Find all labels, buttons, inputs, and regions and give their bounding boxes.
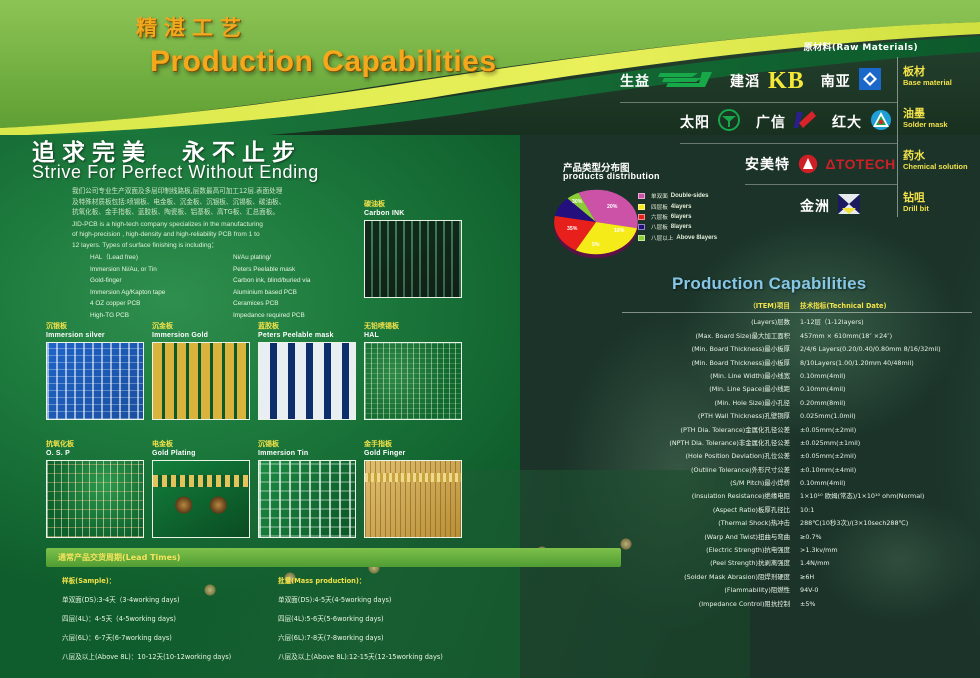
raw-materials-row-base-material: 生益 建滔 KB 南亚 xyxy=(620,60,881,102)
table-cell-value: ±0.05mm(±2mil) xyxy=(800,452,972,461)
sample-image xyxy=(258,342,356,420)
legend-item: 八层板 8layers xyxy=(638,222,717,232)
legend-item: 六层板 6layers xyxy=(638,212,717,222)
sample-label-en: Immersion Gold xyxy=(152,331,250,340)
table-row: (Min. Line Width)最小线宽0.10mm(4mil) xyxy=(622,368,972,381)
legend-label-cn: 六层板 xyxy=(651,213,668,221)
sample-tile-hal: 无铅喷锡板 HAL xyxy=(364,322,462,420)
table-row: (Min. Board Thickness)最小板厚8/10Layers(1.0… xyxy=(622,354,972,367)
sample-label-en: Immersion Tin xyxy=(258,449,356,458)
brand-label-jinzhou: 金洲 xyxy=(800,196,830,216)
legend-item: 单双面 Double-sides xyxy=(638,191,717,201)
table-cell-item: (PTH Wall Thickness)孔壁铜厚 xyxy=(622,412,800,421)
column-header-value: 技术指标(Technical Date) xyxy=(800,300,972,310)
column-header-item: （ITEM)项目 xyxy=(622,300,800,310)
sample-label-en: O. S. P xyxy=(46,449,144,458)
header-title-en: Production Capabilities xyxy=(150,45,497,79)
brand-label-shengyi: 生益 xyxy=(620,71,650,91)
legend-item: 四层板 4layers xyxy=(638,201,717,211)
table-cell-item: (Min. Board Thickness)最小板厚 xyxy=(622,359,800,368)
desc-cn-line: 我们公司专业生产双面及多层印制线路板,层数最高可加工12层.表面处理 xyxy=(72,186,330,197)
table-cell-value: ≥6H xyxy=(800,573,972,582)
sample-image xyxy=(46,342,144,420)
finish-item: Peters Peelable mask xyxy=(233,264,360,276)
raw-materials-row-drill-bit: 金洲 xyxy=(800,185,860,227)
sample-label-cn: 碳油板 xyxy=(364,200,462,209)
lead-time-item: 四层(4L)：4-5天（4-5working days) xyxy=(62,610,231,629)
table-row: (Outline Tolerance)外形尺寸公差±0.10mm(±4mil) xyxy=(622,461,972,474)
pie-value-double-sides: 35% xyxy=(567,226,577,232)
production-capabilities-table: （ITEM)项目 技术指标(Technical Date) (Layers)层数… xyxy=(622,300,972,609)
lead-time-item: 八层及以上(Above 8L)：10-12天(10-12working days… xyxy=(62,648,231,667)
finish-item: Ni/Au plating/ xyxy=(233,252,360,264)
table-cell-item: (Peel Strength)抗剥离强度 xyxy=(622,559,800,568)
sample-label-en: Peters Peelable mask xyxy=(258,331,356,340)
table-cell-value: 0.10mm(4mil) xyxy=(800,385,972,394)
category-label-en: Chemical solution xyxy=(903,162,968,171)
table-cell-item: (Min. Hole Size)最小孔径 xyxy=(622,399,800,408)
table-row: (Min. Hole Size)最小孔径0.20mm(8mil) xyxy=(622,394,972,407)
lead-time-item: 六层(6L)：6-7天(6-7working days) xyxy=(62,629,231,648)
sample-tile-gold-plating: 电金板 Gold Plating xyxy=(152,440,250,538)
sample-label-cn: 沉金板 xyxy=(152,322,250,331)
legend-label-en: Double-sides xyxy=(671,193,709,199)
legend-swatch-above-8layers xyxy=(638,235,645,241)
lead-time-item: 六层(6L):7-8天(7-8working days) xyxy=(278,629,443,648)
category-label-en: Base material xyxy=(903,78,952,87)
table-cell-value: 1×10¹⁰ 欧姆(常态)/1×10¹⁰ ohm(Normal) xyxy=(800,492,972,501)
shengyi-logo xyxy=(658,69,716,94)
finish-item: Immersion Ni/Au, or Tin xyxy=(90,264,217,276)
sample-image xyxy=(258,460,356,538)
table-row: (PTH Dia. Tolerance)金属化孔径公差±0.05mm(±2mil… xyxy=(622,421,972,434)
brochure-page: 精湛工艺 Production Capabilities 追求完美 永不止步 S… xyxy=(0,0,980,678)
table-cell-value: 457mm × 610mm(18″ ×24″) xyxy=(800,332,972,341)
table-cell-value: 0.025mm(1.0mil) xyxy=(800,412,972,421)
finish-item: Immersion Ag/Kapton tape xyxy=(90,287,217,299)
lead-times-sample-column: 样板(Sample)： 单双面(DS):3-4天（3-4working days… xyxy=(62,572,231,667)
sample-label-en: HAL xyxy=(364,331,462,340)
finish-item: Impedance required PCB xyxy=(233,310,360,322)
finish-item: Ceramices PCB xyxy=(233,298,360,310)
kb-logo: KB xyxy=(768,68,805,95)
legend-swatch-6layers xyxy=(638,214,645,220)
raw-materials-divider-vertical xyxy=(897,57,898,217)
legend-label-cn: 八层以上 xyxy=(651,234,673,242)
hongda-logo xyxy=(870,109,892,136)
sample-tile-peelable-mask: 蓝胶板 Peters Peelable mask xyxy=(258,322,356,420)
table-cell-item: (S/M Pitch)最小焊桥 xyxy=(622,479,800,488)
jinzhou-logo xyxy=(838,194,860,219)
table-cell-value: ±0.05mm(±2mil) xyxy=(800,426,972,435)
production-capabilities-title: Production Capabilities xyxy=(672,274,866,294)
table-cell-value: ±0.10mm(±4mil) xyxy=(800,466,972,475)
table-header-row: （ITEM)项目 技术指标(Technical Date) xyxy=(622,300,972,312)
category-label-en: Solder mask xyxy=(903,120,948,129)
brand-label-kb: 建滔 xyxy=(730,71,760,91)
table-cell-item: (Min. Line Width)最小线宽 xyxy=(622,372,800,381)
table-row: (Electric Strength)抗电强度>1.3kv/mm xyxy=(622,542,972,555)
sample-label-cn: 电金板 xyxy=(152,440,250,449)
desc-en-line: JID-PCB is a high-tech company specializ… xyxy=(72,220,330,231)
category-label-cn: 钻咀 xyxy=(903,192,929,204)
pie-chart: 30% 20% 10% 5% 35% xyxy=(548,184,644,262)
table-row: (Flammability)阻燃性94V-0 xyxy=(622,582,972,595)
atotech-logo: ΔTOTECH xyxy=(798,154,896,174)
table-row: (Layers)层数1-12层（1-12layers) xyxy=(622,314,972,327)
legend-swatch-8layers xyxy=(638,224,645,230)
legend-item: 八层以上 Above 8layers xyxy=(638,233,717,243)
legend-label-en: 4layers xyxy=(671,204,692,210)
company-description: 我们公司专业生产双面及多层印制线路板,层数最高可加工12层.表面处理 及特殊材质… xyxy=(72,186,330,251)
desc-en-line: 12 layers. Types of surface finishing is… xyxy=(72,241,330,252)
table-cell-item: (Electric Strength)抗电强度 xyxy=(622,546,800,555)
raw-material-category-chemical: 药水 Chemical solution xyxy=(903,150,968,171)
lead-time-item: 四层(4L):5-6天(5-6working days) xyxy=(278,610,443,629)
table-row: (Max. Board Size)最大加工面积457mm × 610mm(18″… xyxy=(622,327,972,340)
table-row: (NPTH Dia. Tolerance)非金属化孔径公差±0.025mm(±1… xyxy=(622,435,972,448)
table-cell-item: (Solder Mask Abrasion)阻焊剂硬度 xyxy=(622,573,800,582)
sample-image xyxy=(364,460,462,538)
sample-label-cn: 沉锡板 xyxy=(258,440,356,449)
table-cell-value: 1-12层（1-12layers) xyxy=(800,318,972,327)
surface-finish-column-left: HAL（Lead free) Immersion Ni/Au, or Tin G… xyxy=(90,252,217,322)
table-header-rule xyxy=(622,312,972,313)
pie-value-6layers: 20% xyxy=(607,204,617,210)
desc-cn-line: 抗氧化板、金手指板、蓝胶板、陶瓷板、铝基板、高TG板、汇总面板。 xyxy=(72,207,330,218)
sample-label-en: Gold Plating xyxy=(152,449,250,458)
table-row: (S/M Pitch)最小焊桥0.10mm(4mil) xyxy=(622,475,972,488)
sample-label-cn: 抗氧化板 xyxy=(46,440,144,449)
legend-swatch-double-sides xyxy=(638,193,645,199)
sample-label-en: Gold Finger xyxy=(364,449,462,458)
table-cell-value: ≥0.7% xyxy=(800,533,972,542)
table-cell-item: (Layers)层数 xyxy=(622,318,800,327)
table-cell-item: (Warp And Twist)扭曲与弯曲 xyxy=(622,533,800,542)
pie-value-8layers: 10% xyxy=(614,228,624,234)
table-row: (Peel Strength)抗剥离强度1.4N/mm xyxy=(622,555,972,568)
table-cell-value: >1.3kv/mm xyxy=(800,546,972,555)
sample-tile-gold-finger: 金手指板 Gold Finger xyxy=(364,440,462,538)
table-cell-item: (NPTH Dia. Tolerance)非金属化孔径公差 xyxy=(622,439,800,448)
raw-materials-title: 原材料(Raw Materials) xyxy=(804,40,918,53)
table-cell-value: 8/10Layers(1.00/1.20mm 40/48mil) xyxy=(800,359,972,368)
sample-tile-carbon-ink: 碳油板 Carbon INK xyxy=(364,200,462,298)
pie-value-4layers: 30% xyxy=(572,199,582,205)
sample-tile-immersion-gold: 沉金板 Immersion Gold xyxy=(152,322,250,420)
table-cell-value: ±5% xyxy=(800,600,972,609)
table-cell-value: 10:1 xyxy=(800,506,972,515)
raw-material-category-base: 板材 Base material xyxy=(903,66,952,87)
table-row: (Solder Mask Abrasion)阻焊剂硬度≥6H xyxy=(622,568,972,581)
table-row: (Warp And Twist)扭曲与弯曲≥0.7% xyxy=(622,528,972,541)
guangxin-logo xyxy=(794,109,816,136)
table-cell-value: ±0.025mm(±1mil) xyxy=(800,439,972,448)
table-cell-item: (Outline Tolerance)外形尺寸公差 xyxy=(622,466,800,475)
sample-label-en: Carbon INK xyxy=(364,209,462,218)
finish-item: High-TG PCB xyxy=(90,310,217,322)
finish-item: 4 OZ copper PCB xyxy=(90,298,217,310)
table-cell-item: (Min. Board Thickness)最小板厚 xyxy=(622,345,800,354)
table-cell-item: (Insulation Resistance)绝缘电阻 xyxy=(622,492,800,501)
finish-item: Aluminium based PCB xyxy=(233,287,360,299)
table-cell-value: 0.10mm(4mil) xyxy=(800,372,972,381)
table-row: (Min. Board Thickness)最小板厚2/4/6 Layers(0… xyxy=(622,341,972,354)
table-row: (Hole Position Deviation)孔位公差±0.05mm(±2m… xyxy=(622,448,972,461)
legend-swatch-4layers xyxy=(638,204,645,210)
sample-label-en: Immersion silver xyxy=(46,331,144,340)
table-row: (Insulation Resistance)绝缘电阻1×10¹⁰ 欧姆(常态)… xyxy=(622,488,972,501)
table-cell-item: (Hole Position Deviation)孔位公差 xyxy=(622,452,800,461)
brand-label-atotech: 安美特 xyxy=(745,154,790,174)
finish-item: Carbon ink, blind/buried via xyxy=(233,275,360,287)
sample-image xyxy=(364,220,462,298)
lead-times-sample-heading: 样板(Sample)： xyxy=(62,572,231,591)
brand-label-nanya: 南亚 xyxy=(821,71,851,91)
raw-material-category-solder-mask: 油墨 Solder mask xyxy=(903,108,948,129)
desc-en-line: of high-precision , high-density and hig… xyxy=(72,230,330,241)
brand-label-hongda: 红大 xyxy=(832,112,862,132)
lead-times-bar: 通常产品交货周期(Lead Times) xyxy=(46,548,621,567)
raw-material-category-drill-bit: 钻咀 Drill bit xyxy=(903,192,929,213)
sample-tile-osp: 抗氧化板 O. S. P xyxy=(46,440,144,538)
pie-value-above8: 5% xyxy=(592,242,600,248)
pie-chart-legend: 单双面 Double-sides 四层板 4layers 六层板 6layers… xyxy=(638,191,717,243)
finish-item: Gold-finger xyxy=(90,275,217,287)
tagline-en: Strive For Perfect Without Ending xyxy=(32,162,319,183)
legend-label-cn: 单双面 xyxy=(651,192,668,200)
brand-label-guangxin: 广信 xyxy=(756,112,786,132)
category-label-cn: 油墨 xyxy=(903,108,948,120)
legend-label-cn: 四层板 xyxy=(651,203,668,211)
table-row: (Aspect Ratio)板厚孔径比10:1 xyxy=(622,501,972,514)
lead-time-item: 八层及以上(Above 8L):12-15天(12-15working days… xyxy=(278,648,443,667)
lead-times-bar-label: 通常产品交货周期(Lead Times) xyxy=(58,552,180,563)
sample-image xyxy=(46,460,144,538)
nanya-logo xyxy=(859,68,881,95)
legend-label-en: Above 8layers xyxy=(676,235,717,241)
sample-tile-immersion-silver: 沉银板 Immersion silver xyxy=(46,322,144,420)
category-label-cn: 药水 xyxy=(903,150,968,162)
category-label-en: Drill bit xyxy=(903,204,929,213)
table-cell-item: (PTH Dia. Tolerance)金属化孔径公差 xyxy=(622,426,800,435)
sample-tile-immersion-tin: 沉锡板 Immersion Tin xyxy=(258,440,356,538)
lead-time-item: 单双面(DS):3-4天（3-4working days) xyxy=(62,591,231,610)
table-cell-item: (Aspect Ratio)板厚孔径比 xyxy=(622,506,800,515)
table-cell-item: (Thermal Shock)热冲击 xyxy=(622,519,800,528)
brand-label-taiyo: 太阳 xyxy=(680,112,710,132)
table-cell-item: (Impedance Control)阻抗控制 xyxy=(622,600,800,609)
surface-finish-column-right: Ni/Au plating/ Peters Peelable mask Carb… xyxy=(233,252,360,322)
sample-label-cn: 蓝胶板 xyxy=(258,322,356,331)
surface-finish-list: HAL（Lead free) Immersion Ni/Au, or Tin G… xyxy=(90,252,360,322)
lead-times-mass-column: 批量(Mass production)： 单双面(DS):4-5天(4-5wor… xyxy=(278,572,443,667)
finish-item: HAL（Lead free) xyxy=(90,252,217,264)
table-row: (Thermal Shock)热冲击288℃(10秒3次)/(3×10sech2… xyxy=(622,515,972,528)
category-label-cn: 板材 xyxy=(903,66,952,78)
table-row: (PTH Wall Thickness)孔壁铜厚0.025mm(1.0mil) xyxy=(622,408,972,421)
sample-label-cn: 金手指板 xyxy=(364,440,462,449)
table-cell-value: 0.10mm(4mil) xyxy=(800,479,972,488)
raw-materials-row-solder-mask: 太阳 广信 红大 xyxy=(680,101,892,143)
legend-label-en: 6layers xyxy=(671,214,692,220)
table-cell-item: (Min. Line Space)最小线距 xyxy=(622,385,800,394)
table-cell-value: 0.20mm(8mil) xyxy=(800,399,972,408)
table-cell-item: (Max. Board Size)最大加工面积 xyxy=(622,332,800,341)
sample-label-cn: 沉银板 xyxy=(46,322,144,331)
sample-image xyxy=(152,342,250,420)
raw-materials-row-chemical: 安美特 ΔTOTECH xyxy=(745,143,896,185)
table-cell-value: 288℃(10秒3次)/(3×10sech288℃) xyxy=(800,519,972,528)
table-cell-value: 1.4N/mm xyxy=(800,559,972,568)
taiyo-logo xyxy=(718,109,740,136)
pie-chart-svg xyxy=(548,184,644,260)
sample-image xyxy=(152,460,250,538)
sample-label-cn: 无铅喷锡板 xyxy=(364,322,462,331)
table-row: (Min. Line Space)最小线距0.10mm(4mil) xyxy=(622,381,972,394)
header-title-cn: 精湛工艺 xyxy=(136,12,248,42)
table-cell-value: 2/4/6 Layers(0.20/0.40/0.80mm 8/16/32mil… xyxy=(800,345,972,354)
lead-time-item: 单双面(DS):4-5天(4-5working days) xyxy=(278,591,443,610)
pie-chart-title-en: products distribution xyxy=(563,171,660,181)
table-row: (Impedance Control)阻抗控制±5% xyxy=(622,595,972,608)
sample-image xyxy=(364,342,462,420)
legend-label-en: 8layers xyxy=(671,224,692,230)
desc-cn-line: 及特殊材质板包括:喷锡板、电金板、沉金板、沉银板、沉锡板、碳油板、 xyxy=(72,197,330,208)
legend-label-cn: 八层板 xyxy=(651,223,668,231)
lead-times-mass-heading: 批量(Mass production)： xyxy=(278,572,443,591)
table-cell-item: (Flammability)阻燃性 xyxy=(622,586,800,595)
table-cell-value: 94V-0 xyxy=(800,586,972,595)
